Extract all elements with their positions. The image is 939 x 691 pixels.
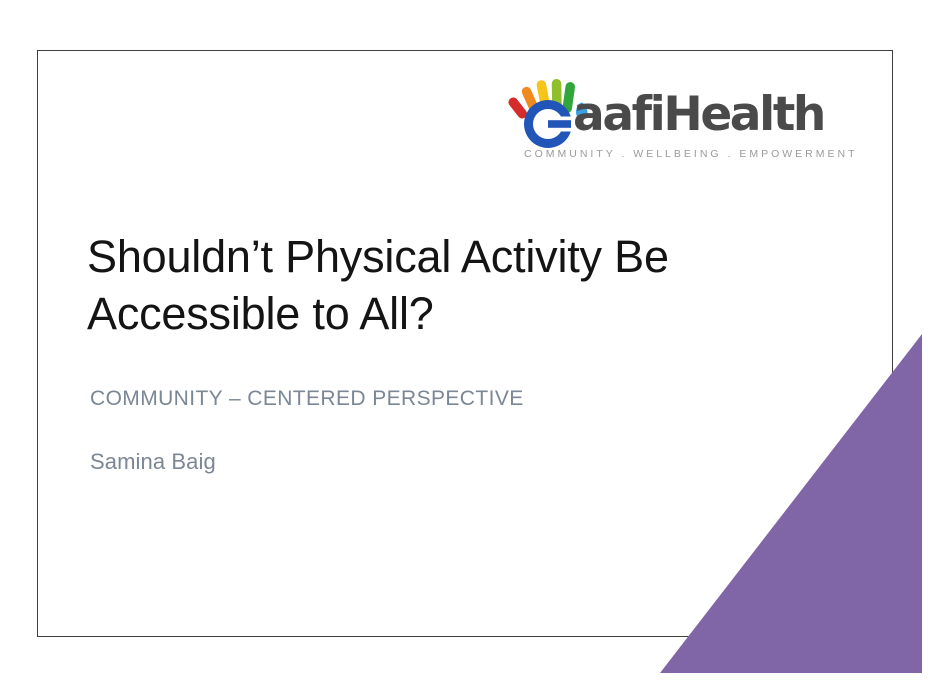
caafihealth-logo: aafiHealth COMMUNITY . WELLBEING . EMPOW… xyxy=(506,77,862,169)
slide-canvas: aafiHealth COMMUNITY . WELLBEING . EMPOW… xyxy=(37,50,893,637)
logo-tagline: COMMUNITY . WELLBEING . EMPOWERMENT xyxy=(524,148,858,160)
slide-title: Shouldn’t Physical Activity Be Accessibl… xyxy=(87,229,787,342)
slide-author: Samina Baig xyxy=(90,449,216,475)
logo-wordmark: aafiHealth xyxy=(573,91,824,138)
slide-subtitle: COMMUNITY – CENTERED PERSPECTIVE xyxy=(90,387,524,411)
